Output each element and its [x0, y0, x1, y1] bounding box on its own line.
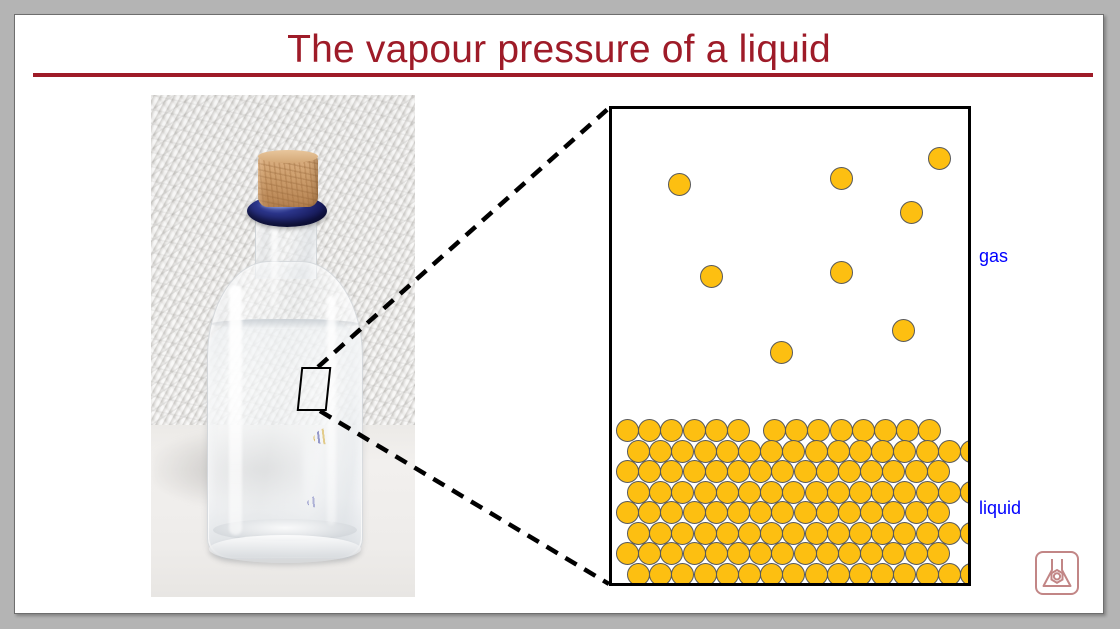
liquid-particle — [860, 542, 883, 565]
liquid-particle — [893, 522, 916, 545]
liquid-particle — [805, 481, 828, 504]
liquid-particle — [716, 481, 739, 504]
conical-flask-logo — [1033, 549, 1081, 597]
liquid-particle — [816, 501, 839, 524]
liquid-particle — [860, 460, 883, 483]
liquid-particle — [938, 440, 961, 463]
liquid-particle — [716, 563, 739, 586]
liquid-particle — [927, 542, 950, 565]
liquid-particle — [683, 460, 706, 483]
liquid-particle — [905, 460, 928, 483]
liquid-particle — [616, 419, 639, 442]
liquid-particle — [960, 440, 971, 463]
liquid-particle — [649, 522, 672, 545]
liquid-particle — [938, 563, 961, 586]
liquid-particle — [683, 542, 706, 565]
liquid-particle — [871, 522, 894, 545]
liquid-particle — [838, 501, 861, 524]
liquid-particle — [671, 563, 694, 586]
liquid-particle — [882, 501, 905, 524]
liquid-particle — [807, 419, 830, 442]
liquid-particle — [905, 542, 928, 565]
liquid-particle — [738, 481, 761, 504]
liquid-particle — [882, 542, 905, 565]
liquid-particle — [660, 460, 683, 483]
liquid-particle — [938, 481, 961, 504]
label-gas: gas — [979, 246, 1008, 267]
liquid-particle — [738, 563, 761, 586]
liquid-particle — [671, 481, 694, 504]
liquid-particle — [616, 460, 639, 483]
liquid-particle — [916, 481, 939, 504]
liquid-particle — [960, 563, 971, 586]
glass-highlight-right — [327, 295, 336, 525]
liquid-particle — [849, 440, 872, 463]
liquid-particle — [760, 522, 783, 545]
liquid-particle — [638, 460, 661, 483]
liquid-particle — [749, 460, 772, 483]
liquid-particle — [738, 440, 761, 463]
liquid-particle — [805, 440, 828, 463]
liquid-particle — [871, 440, 894, 463]
liquid-particle — [771, 460, 794, 483]
page-title: The vapour pressure of a liquid — [15, 27, 1103, 73]
liquid-particle — [749, 501, 772, 524]
liquid-particle — [638, 501, 661, 524]
liquid-particle — [627, 481, 650, 504]
liquid-particle — [816, 460, 839, 483]
liquid-particle — [838, 542, 861, 565]
liquid-particle — [960, 522, 971, 545]
liquid-particle — [671, 522, 694, 545]
liquid-particle — [738, 522, 761, 545]
gas-particle — [830, 167, 853, 190]
liquid-particle — [705, 501, 728, 524]
liquid-particle — [782, 563, 805, 586]
liquid-particle — [849, 563, 872, 586]
liquid-particle — [760, 440, 783, 463]
liquid-particle — [683, 419, 706, 442]
liquid-particle — [671, 440, 694, 463]
title-underline-rule — [33, 73, 1093, 77]
liquid-particle — [827, 440, 850, 463]
liquid-particle — [805, 522, 828, 545]
gas-particle — [928, 147, 951, 170]
liquid-particle — [627, 563, 650, 586]
liquid-particle — [893, 563, 916, 586]
liquid-particle — [727, 460, 750, 483]
liquid-particle — [905, 501, 928, 524]
liquid-particle — [760, 481, 783, 504]
liquid-particle — [916, 440, 939, 463]
liquid-particle — [838, 460, 861, 483]
liquid-particle — [660, 419, 683, 442]
liquid-particle — [638, 419, 661, 442]
zoom-selection-rectangle — [297, 367, 332, 411]
liquid-particle — [649, 440, 672, 463]
liquid-particle — [705, 419, 728, 442]
liquid-particle — [871, 563, 894, 586]
liquid-particle — [849, 522, 872, 545]
liquid-particle — [694, 563, 717, 586]
magnified-molecular-view — [609, 106, 971, 586]
liquid-particle — [918, 419, 941, 442]
liquid-particle — [852, 419, 875, 442]
liquid-particle — [727, 419, 750, 442]
gas-particle — [700, 265, 723, 288]
liquid-particle — [716, 440, 739, 463]
liquid-particle — [827, 481, 850, 504]
liquid-particle — [860, 501, 883, 524]
liquid-particle — [705, 460, 728, 483]
liquid-particle — [782, 481, 805, 504]
liquid-particle — [938, 522, 961, 545]
liquid-particle — [727, 501, 750, 524]
liquid-particle — [871, 481, 894, 504]
liquid-particle — [827, 522, 850, 545]
liquid-particle — [893, 440, 916, 463]
liquid-particle — [694, 440, 717, 463]
liquid-particle — [896, 419, 919, 442]
liquid-particle — [916, 522, 939, 545]
presentation-slide: The vapour pressure of a liquid — [14, 14, 1104, 614]
liquid-particle — [830, 419, 853, 442]
logo-inner-circle — [1054, 573, 1060, 579]
gas-particle — [830, 261, 853, 284]
liquid-particle — [616, 501, 639, 524]
liquid-particle — [771, 542, 794, 565]
liquid-particle — [627, 522, 650, 545]
liquid-particle — [638, 542, 661, 565]
liquid-particle — [649, 481, 672, 504]
liquid-particle — [627, 440, 650, 463]
liquid-particle — [882, 460, 905, 483]
liquid-particle — [727, 542, 750, 565]
cork-stopper-top — [258, 150, 318, 163]
liquid-particle — [827, 563, 850, 586]
liquid-particle — [616, 542, 639, 565]
label-liquid: liquid — [979, 498, 1021, 519]
bottle-photograph — [151, 95, 415, 597]
liquid-particle — [716, 522, 739, 545]
liquid-particle — [782, 440, 805, 463]
liquid-particle — [785, 419, 808, 442]
screenshot-canvas: The vapour pressure of a liquid — [0, 0, 1120, 629]
liquid-particle — [749, 542, 772, 565]
liquid-particle — [771, 501, 794, 524]
liquid-particle — [782, 522, 805, 545]
liquid-particle — [960, 481, 971, 504]
liquid-particle — [849, 481, 872, 504]
liquid-particle — [760, 563, 783, 586]
liquid-particle — [805, 563, 828, 586]
liquid-particle — [660, 542, 683, 565]
liquid-particle — [683, 501, 706, 524]
bottle-base — [209, 535, 361, 563]
liquid-particle — [705, 542, 728, 565]
gas-particle — [770, 341, 793, 364]
liquid-particle — [927, 460, 950, 483]
liquid-particle — [763, 419, 786, 442]
liquid-particle — [916, 563, 939, 586]
liquid-particle — [694, 522, 717, 545]
liquid-particle — [694, 481, 717, 504]
glass-highlight-left — [229, 285, 242, 535]
liquid-particle — [794, 542, 817, 565]
liquid-particle — [660, 501, 683, 524]
gas-particle — [892, 319, 915, 342]
liquid-particle — [874, 419, 897, 442]
liquid-particle — [649, 563, 672, 586]
gas-particle — [668, 173, 691, 196]
liquid-particle — [794, 460, 817, 483]
liquid-particle — [816, 542, 839, 565]
liquid-particle — [927, 501, 950, 524]
liquid-particle — [893, 481, 916, 504]
gas-particle — [900, 201, 923, 224]
liquid-particle — [794, 501, 817, 524]
